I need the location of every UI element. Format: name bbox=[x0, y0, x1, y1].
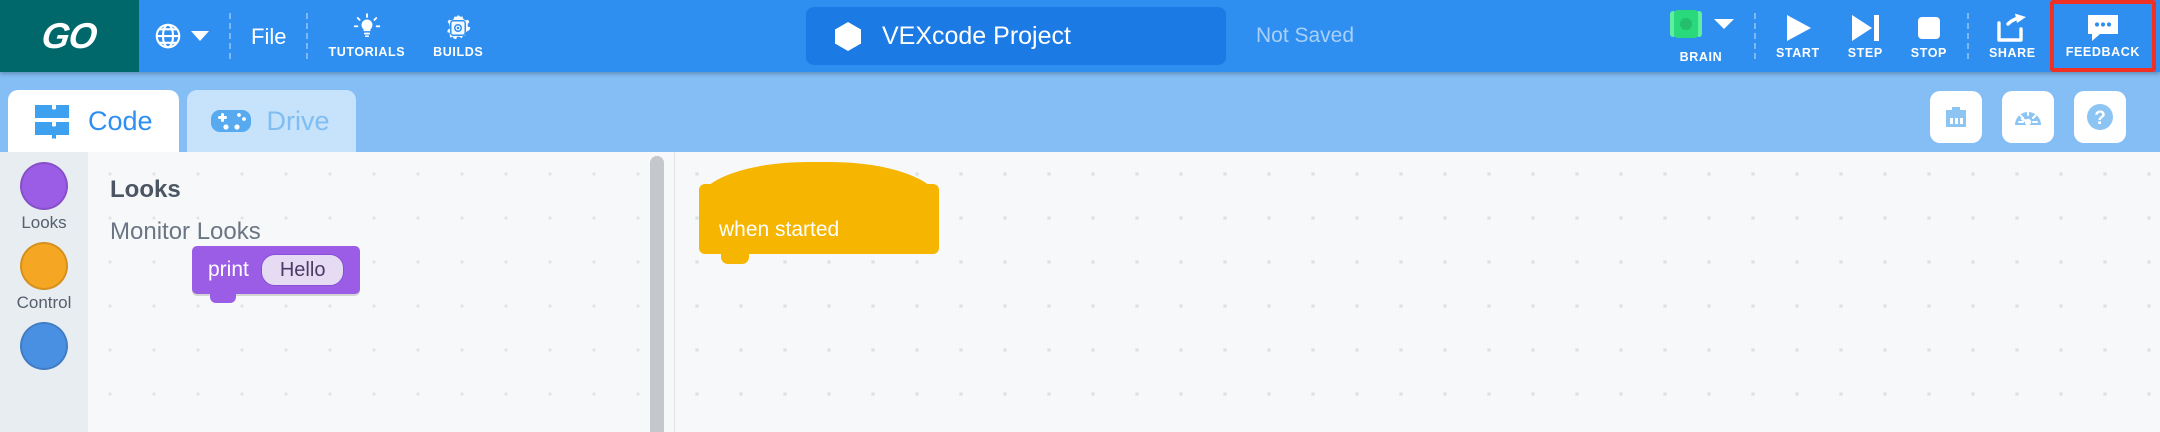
tutorials-label: TUTORIALS bbox=[328, 45, 405, 59]
tab-drive[interactable]: Drive bbox=[187, 90, 356, 152]
device-monitor-button[interactable] bbox=[1930, 91, 1982, 143]
block-text-input[interactable]: Hello bbox=[261, 254, 345, 286]
share-label: SHARE bbox=[1989, 46, 2036, 60]
category-next[interactable] bbox=[0, 322, 88, 370]
brain-device-icon bbox=[1668, 8, 1704, 40]
feedback-label: FEEDBACK bbox=[2066, 45, 2140, 59]
category-label: Control bbox=[17, 293, 72, 313]
palette-title: Looks bbox=[110, 176, 674, 204]
gamepad-icon bbox=[209, 104, 253, 138]
globe-icon bbox=[153, 21, 183, 51]
tabbar-tool-buttons: ? bbox=[1930, 91, 2160, 152]
lightbulb-icon bbox=[352, 13, 382, 43]
block-label: print bbox=[208, 258, 249, 282]
category-color-dot bbox=[20, 322, 68, 370]
dashboard-gauge-button[interactable] bbox=[2002, 91, 2054, 143]
chevron-down-icon bbox=[191, 30, 209, 42]
toolbar-right-group: BRAIN START STEP bbox=[1654, 0, 2160, 72]
code-blocks-icon bbox=[30, 99, 74, 143]
go-logo-text: GO bbox=[40, 15, 100, 57]
tutorials-button[interactable]: TUTORIALS bbox=[314, 0, 419, 72]
palette-block-print[interactable]: print Hello bbox=[192, 246, 360, 294]
step-label: STEP bbox=[1848, 46, 1883, 60]
file-menu-label: File bbox=[251, 24, 286, 50]
category-color-dot bbox=[20, 162, 68, 210]
start-button[interactable]: START bbox=[1762, 0, 1834, 72]
device-monitor-icon bbox=[1940, 101, 1972, 133]
help-button[interactable]: ? bbox=[2074, 91, 2126, 143]
language-selector[interactable] bbox=[139, 0, 223, 72]
help-question-icon: ? bbox=[2084, 101, 2116, 133]
svg-text:?: ? bbox=[2094, 108, 2106, 129]
stop-button[interactable]: STOP bbox=[1897, 0, 1961, 72]
workspace-block-when-started[interactable]: when started bbox=[699, 184, 939, 254]
brain-label: BRAIN bbox=[1680, 50, 1723, 64]
category-label: Looks bbox=[21, 213, 66, 233]
start-label: START bbox=[1776, 46, 1820, 60]
brain-selector[interactable]: BRAIN bbox=[1654, 0, 1748, 72]
hexagon-icon bbox=[834, 21, 862, 52]
step-forward-icon bbox=[1848, 12, 1882, 44]
stop-square-icon bbox=[1913, 12, 1945, 44]
feedback-button[interactable]: FEEDBACK bbox=[2050, 0, 2156, 72]
tab-drive-label: Drive bbox=[267, 106, 330, 137]
toolbar-divider bbox=[229, 13, 231, 59]
file-menu-button[interactable]: File bbox=[237, 0, 300, 72]
dashboard-gauge-icon bbox=[2012, 101, 2044, 133]
project-name-text: VEXcode Project bbox=[882, 22, 1071, 51]
palette-subtitle: Monitor Looks bbox=[110, 218, 674, 246]
block-label: when started bbox=[719, 218, 839, 242]
project-name-button[interactable]: VEXcode Project bbox=[806, 7, 1226, 65]
share-button[interactable]: SHARE bbox=[1975, 0, 2050, 72]
play-icon bbox=[1781, 12, 1815, 44]
block-palette[interactable]: Looks Monitor Looks print Hello bbox=[88, 152, 674, 432]
save-status-label: Not Saved bbox=[1256, 24, 1354, 48]
share-icon bbox=[1995, 12, 2029, 44]
mode-tab-bar: Code Drive bbox=[0, 72, 2160, 152]
category-color-dot bbox=[20, 242, 68, 290]
palette-scrollbar[interactable] bbox=[650, 156, 664, 432]
toolbar-divider bbox=[1967, 13, 1969, 59]
editor-body: Looks Control Looks Monitor Looks print … bbox=[0, 152, 2160, 432]
category-looks[interactable]: Looks bbox=[0, 162, 88, 233]
stop-label: STOP bbox=[1911, 46, 1947, 60]
go-logo[interactable]: GO bbox=[0, 0, 139, 72]
builds-label: BUILDS bbox=[433, 45, 483, 59]
code-workspace[interactable]: when started bbox=[674, 152, 2160, 432]
gear-icon bbox=[443, 13, 473, 43]
tab-code[interactable]: Code bbox=[8, 90, 179, 152]
category-rail: Looks Control bbox=[0, 152, 88, 432]
category-control[interactable]: Control bbox=[0, 242, 88, 313]
toolbar-divider bbox=[1754, 13, 1756, 59]
speech-bubble-icon bbox=[2085, 13, 2121, 43]
chevron-down-icon bbox=[1714, 18, 1734, 30]
toolbar-left-group: File bbox=[139, 0, 497, 72]
builds-button[interactable]: BUILDS bbox=[419, 0, 497, 72]
step-button[interactable]: STEP bbox=[1834, 0, 1897, 72]
vexcode-go-app: GO File bbox=[0, 0, 2160, 432]
tab-code-label: Code bbox=[88, 106, 153, 137]
main-toolbar: GO File bbox=[0, 0, 2160, 72]
toolbar-divider bbox=[306, 13, 308, 59]
